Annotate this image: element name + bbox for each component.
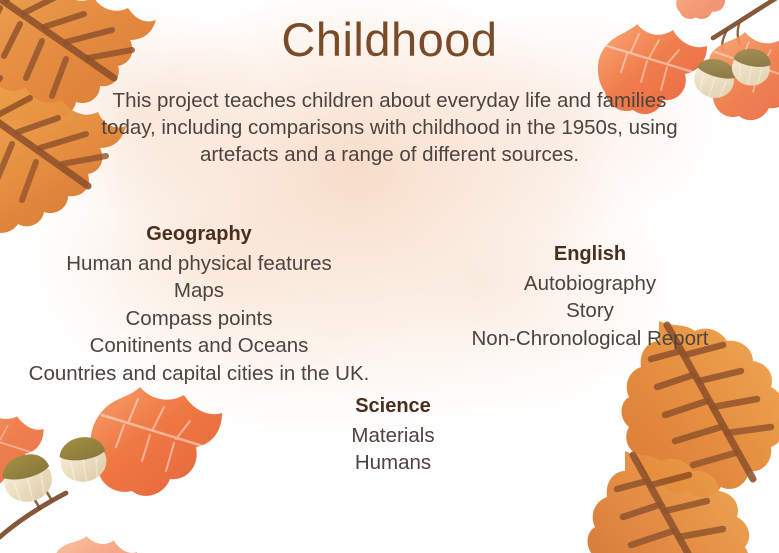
subject-list-science: Materials Humans — [273, 422, 513, 477]
list-item: Story — [420, 297, 760, 324]
subject-block-science: Science Materials Humans — [273, 392, 513, 477]
list-item: Compass points — [8, 305, 390, 332]
subject-title-english: English — [420, 240, 760, 269]
subject-title-science: Science — [273, 392, 513, 421]
subject-list-geography: Human and physical features Maps Compass… — [8, 250, 390, 387]
list-item: Humans — [273, 449, 513, 476]
subject-title-geography: Geography — [8, 220, 390, 249]
subject-block-geography: Geography Human and physical features Ma… — [8, 220, 390, 387]
page-title: Childhood — [0, 14, 779, 67]
list-item: Human and physical features — [8, 250, 390, 277]
list-item: Maps — [8, 277, 390, 304]
list-item: Autobiography — [420, 270, 760, 297]
list-item: Conitinents and Oceans — [8, 332, 390, 359]
subject-list-english: Autobiography Story Non-Chronological Re… — [420, 270, 760, 352]
intro-paragraph: This project teaches children about ever… — [90, 88, 690, 169]
poster-content: Childhood This project teaches children … — [0, 0, 779, 553]
poster-canvas: Childhood This project teaches children … — [0, 0, 779, 553]
list-item: Countries and capital cities in the UK. — [8, 360, 390, 387]
list-item: Non-Chronological Report — [420, 325, 760, 352]
subject-block-english: English Autobiography Story Non-Chronolo… — [420, 240, 760, 352]
list-item: Materials — [273, 422, 513, 449]
